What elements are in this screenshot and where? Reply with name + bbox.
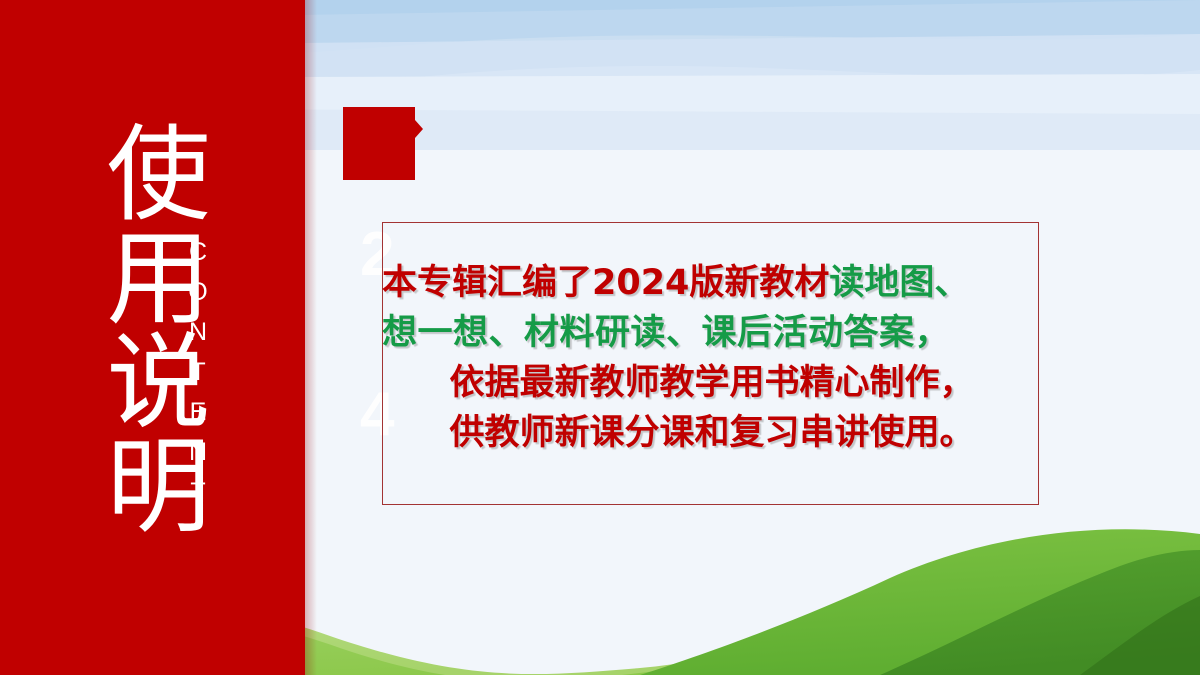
- content-line-2-green: 想一想、材料研读、课后活动答案，: [382, 313, 950, 353]
- sidebar-panel-shadow: [305, 0, 317, 675]
- content-line-1-green: 读地图、: [829, 263, 969, 303]
- content-text-block: 本专辑汇编了2024版新教材读地图、 想一想、材料研读、课后活动答案， 依据最新…: [382, 258, 1042, 458]
- content-line-1: 本专辑汇编了2024版新教材读地图、: [382, 258, 1042, 308]
- badge-shape-icon: [343, 107, 423, 182]
- content-line-1-red: 本专辑汇编了2024版新教材: [382, 263, 829, 303]
- content-line-3: 依据最新教师教学用书精心制作，: [382, 358, 1042, 408]
- content-line-4-red: 供教师新课分课和复习串讲使用。: [449, 413, 974, 453]
- page-title: 使用说明: [78, 82, 208, 572]
- red-badge-decoration: [343, 107, 415, 180]
- content-line-4: 供教师新课分课和复习串讲使用。: [382, 408, 1042, 458]
- content-line-3-red: 依据最新教师教学用书精心制作，: [449, 363, 974, 403]
- content-line-2: 想一想、材料研读、课后活动答案，: [382, 308, 1042, 358]
- slide-canvas: 使用说明 CONTENT 2 0 2 4 本专辑汇编了2024版新教材读地图、 …: [0, 0, 1200, 675]
